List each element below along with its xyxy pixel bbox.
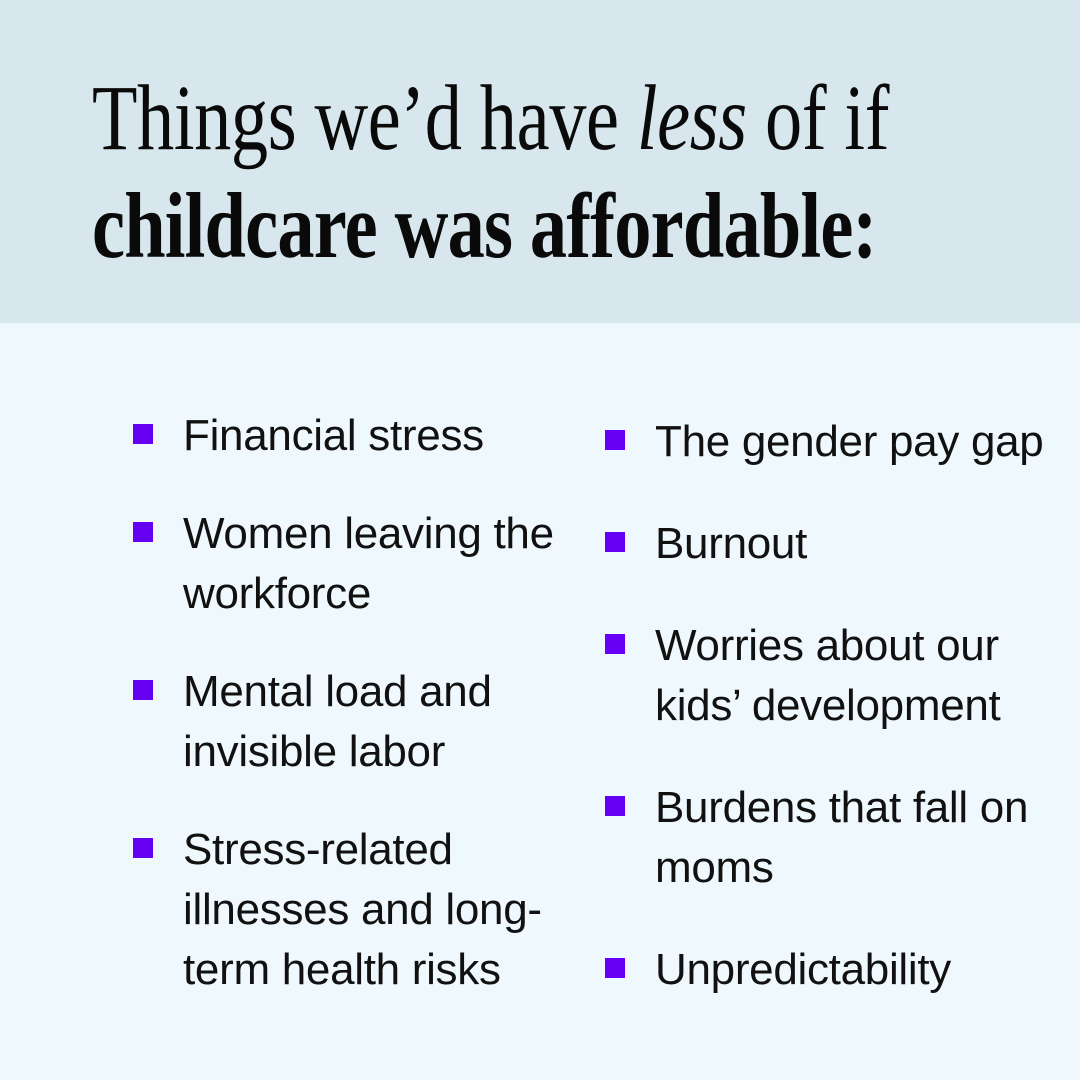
- headline-line-2: childcare was affordable:: [92, 173, 812, 281]
- list-item: Unpredictability: [605, 940, 1050, 1000]
- square-bullet-icon: [133, 424, 153, 444]
- square-bullet-icon: [133, 680, 153, 700]
- list-item-label: Mental load and invisible labor: [183, 662, 563, 782]
- list-item: Financial stress: [133, 406, 563, 466]
- header-band: Things we’d have less of if childcare wa…: [0, 0, 1080, 323]
- headline-text-before: Things we’d have: [92, 67, 637, 170]
- square-bullet-icon: [605, 532, 625, 552]
- bullet-list-left: Financial stress Women leaving the workf…: [93, 406, 563, 1038]
- square-bullet-icon: [605, 796, 625, 816]
- list-item-label: Worries about our kids’ development: [655, 616, 1050, 736]
- list-item: Burdens that fall on moms: [605, 778, 1050, 898]
- list-item-label: The gender pay gap: [655, 412, 1050, 472]
- page-title: Things we’d have less of if childcare wa…: [92, 65, 992, 281]
- list-item: The gender pay gap: [605, 412, 1050, 472]
- headline-text-after: of if: [747, 67, 889, 170]
- square-bullet-icon: [605, 958, 625, 978]
- poster-canvas: Things we’d have less of if childcare wa…: [0, 0, 1080, 1080]
- list-item-label: Financial stress: [183, 406, 563, 466]
- headline-line-1: Things we’d have less of if: [92, 65, 812, 173]
- list-item: Women leaving the workforce: [133, 504, 563, 624]
- bullet-list-right: The gender pay gap Burnout Worries about…: [565, 412, 1050, 1042]
- list-item: Mental load and invisible labor: [133, 662, 563, 782]
- list-item-label: Burnout: [655, 514, 1050, 574]
- list-item: Stress-related illnesses and long-term h…: [133, 820, 563, 1000]
- square-bullet-icon: [133, 522, 153, 542]
- list-item: Burnout: [605, 514, 1050, 574]
- headline-emphasis-less: less: [637, 67, 747, 170]
- list-item-label: Burdens that fall on moms: [655, 778, 1050, 898]
- list-item: Worries about our kids’ development: [605, 616, 1050, 736]
- bullet-lists-region: Financial stress Women leaving the workf…: [0, 323, 1080, 1080]
- square-bullet-icon: [605, 634, 625, 654]
- list-item-label: Unpredictability: [655, 940, 1050, 1000]
- list-item-label: Women leaving the workforce: [183, 504, 563, 624]
- list-item-label: Stress-related illnesses and long-term h…: [183, 820, 563, 1000]
- square-bullet-icon: [133, 838, 153, 858]
- square-bullet-icon: [605, 430, 625, 450]
